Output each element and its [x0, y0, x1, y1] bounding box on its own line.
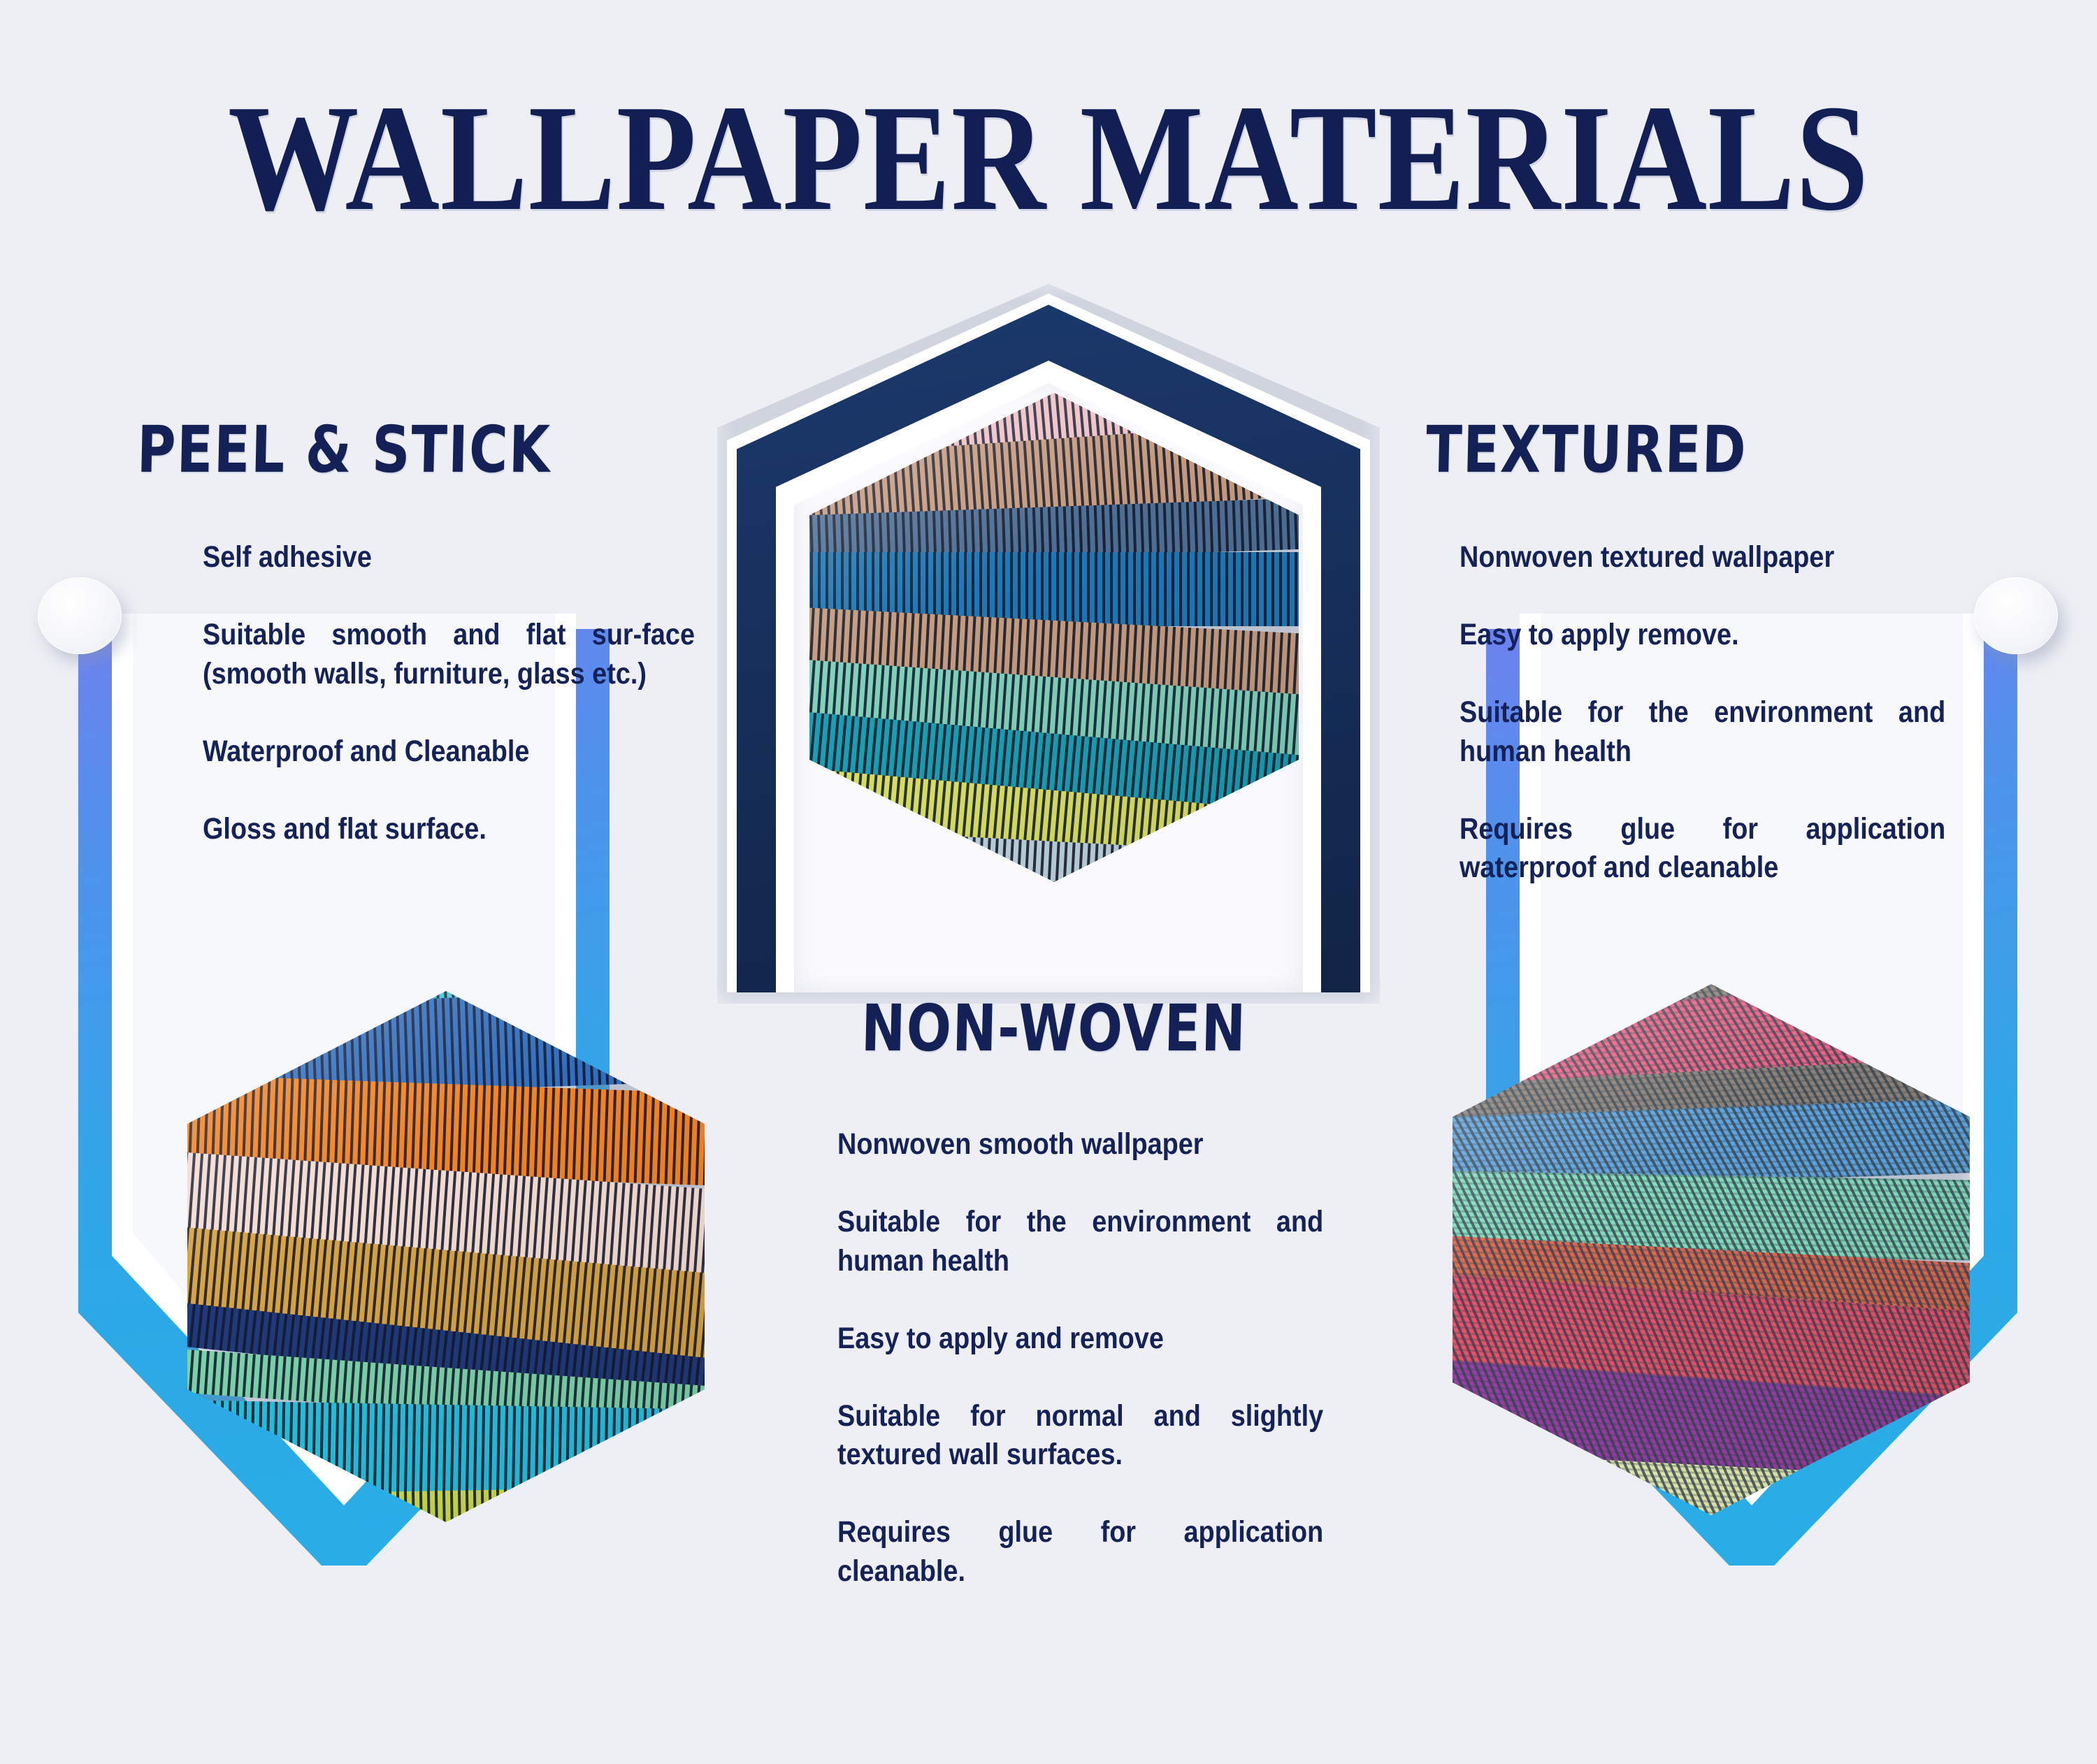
- bullet-text: Gloss and flat surface.: [203, 810, 695, 849]
- column-heading-peel-and-stick: PEEL & STICK: [136, 412, 552, 487]
- bullet-text: Easy to apply remove.: [1460, 616, 1945, 655]
- bullet-text: Suitable for the environment and human h…: [837, 1203, 1323, 1281]
- bullet-text: Requires glue for application cleanable.: [837, 1513, 1323, 1591]
- column-body-non-woven: Nonwoven smooth wallpaperSuitable for th…: [837, 1125, 1323, 1591]
- bullet-text: Nonwoven textured wallpaper: [1460, 538, 1945, 577]
- left-ribbon-circle-cap-icon: [38, 577, 122, 654]
- bullet-text: Self adhesive: [203, 538, 695, 577]
- column-body-peel-and-stick: Self adhesiveSuitable smooth and flat su…: [203, 538, 695, 848]
- infographic-canvas: WALLPAPER MATERIALS PEEL & STICK NON-WOV…: [0, 0, 2097, 1764]
- column-heading-non-woven: NON-WOVEN: [860, 991, 1248, 1066]
- bullet-text: Waterproof and Cleanable: [203, 732, 695, 772]
- bullet-text: Suitable for normal and slightly texture…: [837, 1397, 1323, 1475]
- page-title: WALLPAPER MATERIALS: [147, 82, 1950, 235]
- column-heading-textured: TEXTURED: [1425, 412, 1748, 487]
- column-body-textured: Nonwoven textured wallpaperEasy to apply…: [1460, 538, 1945, 888]
- right-ribbon-circle-cap-icon: [1974, 577, 2058, 654]
- bullet-text: Requires glue for application waterproof…: [1460, 810, 1945, 888]
- bullet-text: Nonwoven smooth wallpaper: [837, 1125, 1323, 1164]
- bullet-text: Easy to apply and remove: [837, 1320, 1323, 1359]
- bullet-text: Suitable smooth and flat sur-face (smoot…: [203, 616, 695, 694]
- bullet-text: Suitable for the environment and human h…: [1460, 693, 1945, 772]
